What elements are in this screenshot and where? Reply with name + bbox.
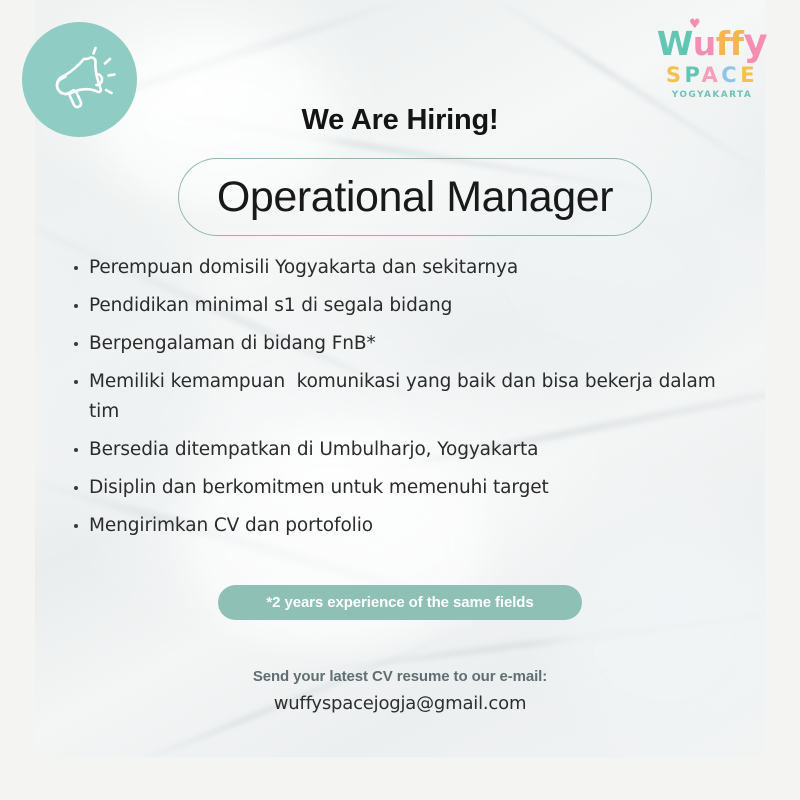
role-title-box: Operational Manager xyxy=(178,158,652,236)
contact-email[interactable]: wuffyspacejogja@gmail.com xyxy=(0,693,800,714)
logo-space-letter-e: E xyxy=(740,63,758,87)
logo-letter-f2: f xyxy=(730,27,744,60)
list-item: Disiplin dan berkomitmen untuk memenuhi … xyxy=(72,473,732,503)
logo-letter-u: u xyxy=(693,27,716,60)
list-item: Memiliki kemampuan komunikasi yang baik … xyxy=(72,367,732,427)
list-item: Mengirimkan CV dan portofolio xyxy=(72,511,732,541)
logo-space-word: SPACE xyxy=(648,65,776,86)
logo-city-label: YOGYAKARTA xyxy=(648,91,776,100)
hiring-headline: We Are Hiring! xyxy=(0,104,800,137)
list-item: Perempuan domisili Yogyakarta dan sekita… xyxy=(72,253,732,283)
list-item: Berpengalaman di bidang FnB* xyxy=(72,329,732,359)
experience-note-badge: *2 years experience of the same fields xyxy=(218,585,582,620)
logo-letter-y: y xyxy=(744,24,768,61)
logo-space-letter-s: S xyxy=(666,63,685,87)
logo-letter-w: W xyxy=(657,27,693,60)
logo-space-letter-c: C xyxy=(721,63,740,87)
requirements-list: Perempuan domisili Yogyakarta dan sekita… xyxy=(72,253,732,549)
brand-logo: ♥ Wuffy SPACE YOGYAKARTA xyxy=(648,24,776,100)
logo-space-letter-p: P xyxy=(685,63,702,87)
logo-wordmark: ♥ Wuffy xyxy=(648,24,776,61)
list-item: Bersedia ditempatkan di Umbulharjo, Yogy… xyxy=(72,435,732,465)
experience-note-text: *2 years experience of the same fields xyxy=(266,594,533,611)
footer-contact: Send your latest CV resume to our e-mail… xyxy=(0,668,800,714)
logo-letter-f1: f xyxy=(716,27,730,60)
logo-space-letter-a: A xyxy=(702,63,722,87)
hiring-poster: ♥ Wuffy SPACE YOGYAKARTA We Are Hiring! … xyxy=(0,0,800,800)
footer-instruction: Send your latest CV resume to our e-mail… xyxy=(0,668,800,685)
role-title: Operational Manager xyxy=(217,176,613,219)
list-item: Pendidikan minimal s1 di segala bidang xyxy=(72,291,732,321)
